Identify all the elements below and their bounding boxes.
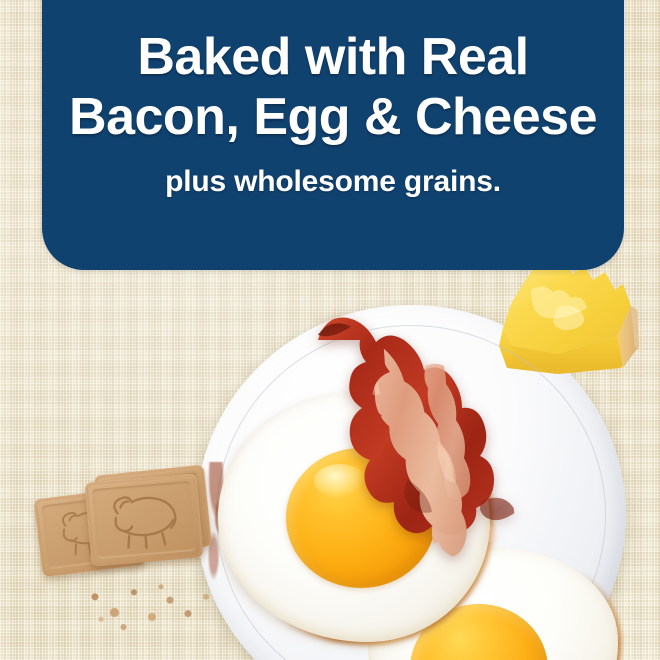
product-banner: Baked with Real Bacon, Egg & Cheese plus…	[0, 0, 660, 660]
animal-cracker	[85, 473, 204, 566]
headline-line-1: Baked with Real	[137, 32, 528, 83]
headline-panel: Baked with Real Bacon, Egg & Cheese plus…	[42, 0, 624, 270]
cracker-crumbs	[74, 580, 224, 636]
animal-emboss-icon	[97, 483, 192, 557]
headline-line-2: Bacon, Egg & Cheese	[69, 92, 597, 143]
headline-subtitle: plus wholesome grains.	[165, 165, 501, 199]
bacon-strip-icon	[288, 300, 638, 600]
